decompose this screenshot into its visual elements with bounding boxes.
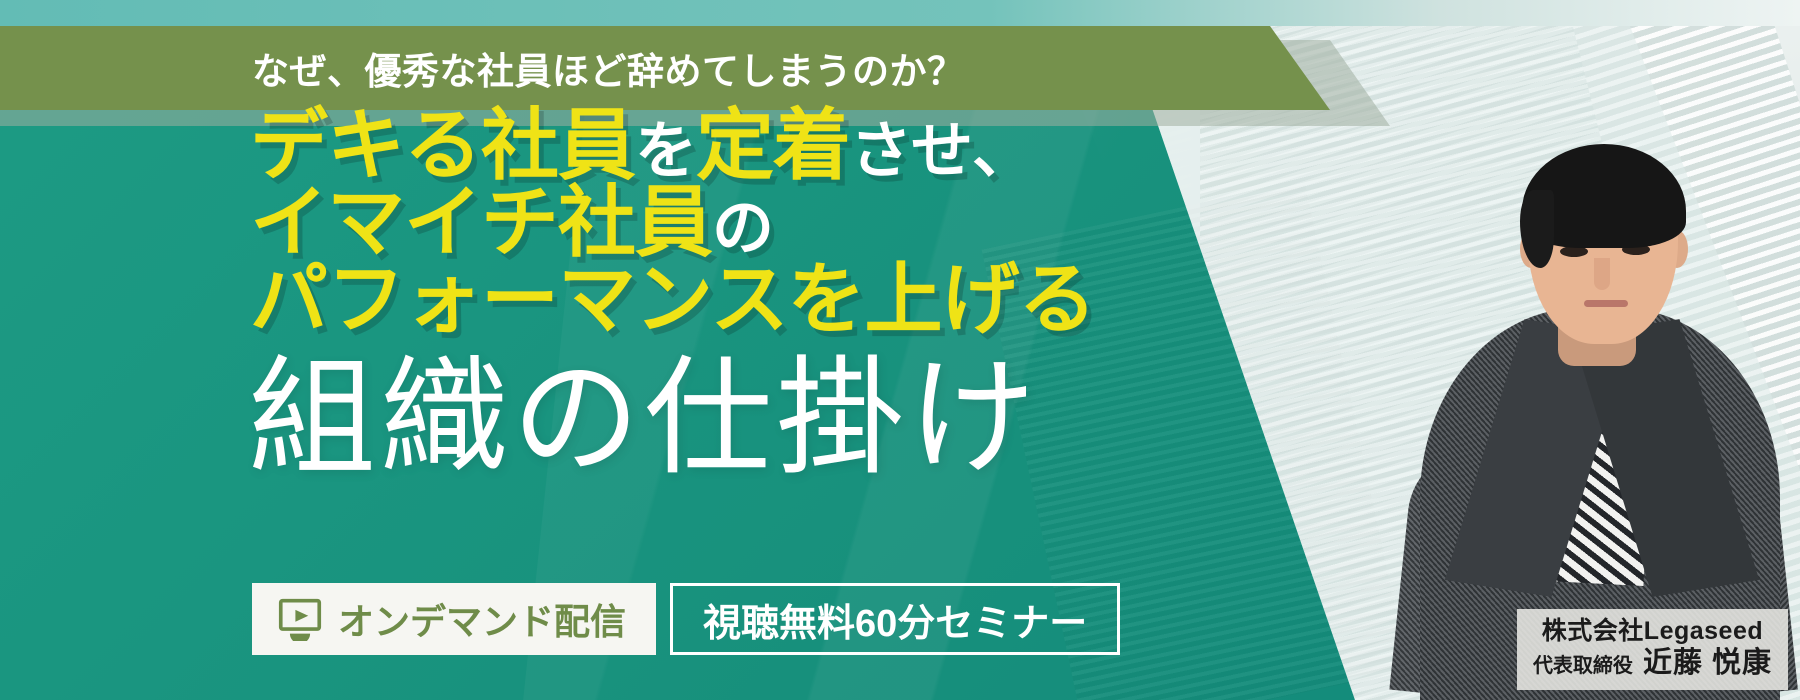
headline-block: デキる社員を定着させ、 イマイチ社員の パフォーマンスを上げる (250, 108, 1250, 339)
question-ribbon: なぜ、優秀な社員ほど辞めてしまうのか？ (0, 26, 1330, 110)
seminar-banner: なぜ、優秀な社員ほど辞めてしまうのか？ デキる社員を定着させ、 イマイチ社員の … (0, 0, 1800, 700)
headline-line-3: パフォーマンスを上げる (250, 262, 1250, 337)
headline-line-2-yellow: イマイチ社員 (250, 178, 712, 266)
headline-line-1-yellow-b: 定着 (696, 101, 850, 189)
free-seminar-badge-label: 視聴無料60分セミナー (703, 592, 1087, 647)
speaker-name-badge: 株式会社Legaseed 代表取締役 近藤 悦康 (1517, 609, 1788, 690)
speaker-mouth (1584, 300, 1628, 307)
headline-line-3-yellow: パフォーマンスを上げる (250, 255, 1095, 343)
headline-line-2: イマイチ社員の (250, 185, 1250, 260)
ribbon-question-text: なぜ、優秀な社員ほど辞めてしまうのか？ (252, 41, 965, 95)
speaker-title-row: 代表取締役 近藤 悦康 (1533, 646, 1772, 681)
speaker-name: 近藤 悦康 (1643, 646, 1772, 681)
headline-main-title: 組織の仕掛け (248, 352, 1040, 486)
headline-line-1-yellow-a: デキる社員 (250, 101, 635, 189)
badge-row: オンデマンド配信 視聴無料60分セミナー (252, 583, 1120, 655)
free-seminar-badge[interactable]: 視聴無料60分セミナー (670, 583, 1120, 655)
headline-line-2-white: の (712, 194, 773, 263)
ondemand-badge-label: オンデマンド配信 (338, 593, 626, 645)
speaker-photo: 株式会社Legaseed 代表取締役 近藤 悦康 (1380, 118, 1800, 700)
headline-line-1: デキる社員を定着させ、 (250, 108, 1250, 183)
headline-line-1-white-a: を (635, 117, 696, 186)
headline-line-1-white-b: させ、 (850, 117, 1033, 186)
ondemand-badge[interactable]: オンデマンド配信 (252, 583, 656, 655)
monitor-play-icon (278, 597, 322, 641)
speaker-role: 代表取締役 (1533, 654, 1633, 678)
speaker-company: 株式会社Legaseed (1533, 616, 1772, 646)
speaker-nose (1594, 258, 1610, 290)
top-accent-strip (0, 0, 1800, 26)
